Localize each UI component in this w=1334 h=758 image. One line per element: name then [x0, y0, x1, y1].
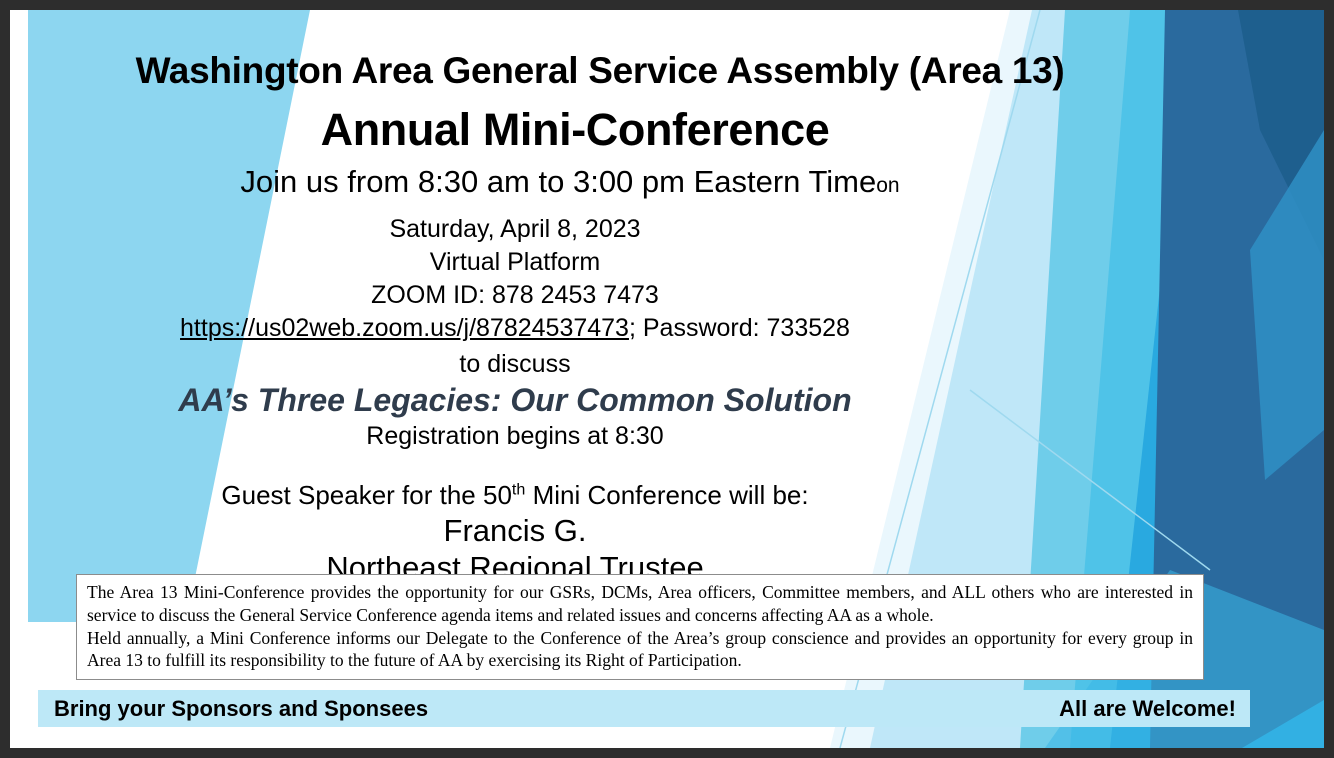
- bottom-banner: Bring your Sponsors and Sponsees All are…: [38, 690, 1250, 727]
- guest-speaker-name: Francis G.: [10, 513, 1020, 549]
- description-box: The Area 13 Mini-Conference provides the…: [76, 574, 1204, 680]
- registration-note: Registration begins at 8:30: [10, 422, 1020, 450]
- slide-canvas: Washington Area General Service Assembly…: [10, 10, 1324, 748]
- description-paragraph-1: The Area 13 Mini-Conference provides the…: [87, 581, 1193, 627]
- banner-left-text: Bring your Sponsors and Sponsees: [54, 696, 428, 722]
- conference-theme: AA’s Three Legacies: Our Common Solution: [10, 383, 1020, 418]
- zoom-meeting-id: ZOOM ID: 878 2453 7473: [10, 281, 1020, 309]
- guest-speaker-intro-before: Guest Speaker for the 50: [221, 480, 512, 510]
- event-platform: Virtual Platform: [10, 248, 1020, 276]
- description-paragraph-2: Held annually, a Mini Conference informs…: [87, 627, 1193, 673]
- guest-speaker-intro-after: Mini Conference will be:: [525, 480, 808, 510]
- event-time-text: Join us from 8:30 am to 3:00 pm Eastern …: [240, 164, 876, 199]
- event-date: Saturday, April 8, 2023: [10, 215, 1020, 243]
- zoom-password: ; Password: 733528: [629, 314, 850, 342]
- event-time-suffix: on: [876, 174, 899, 197]
- zoom-join-link[interactable]: https://us02web.zoom.us/j/87824537473: [180, 314, 629, 342]
- event-time-line: Join us from 8:30 am to 3:00 pm Eastern …: [10, 165, 1130, 199]
- zoom-link-line: https://us02web.zoom.us/j/87824537473; P…: [10, 314, 1020, 342]
- guest-speaker-intro: Guest Speaker for the 50th Mini Conferen…: [10, 480, 1020, 511]
- page-title-line-2: Annual Mini-Conference: [10, 106, 1140, 153]
- banner-right-text: All are Welcome!: [1059, 696, 1236, 722]
- content-layer: Washington Area General Service Assembly…: [10, 10, 1324, 748]
- ordinal-suffix: th: [512, 480, 525, 498]
- slide-frame: Washington Area General Service Assembly…: [0, 0, 1334, 758]
- to-discuss-label: to discuss: [10, 350, 1020, 378]
- page-title-line-1: Washington Area General Service Assembly…: [10, 52, 1190, 91]
